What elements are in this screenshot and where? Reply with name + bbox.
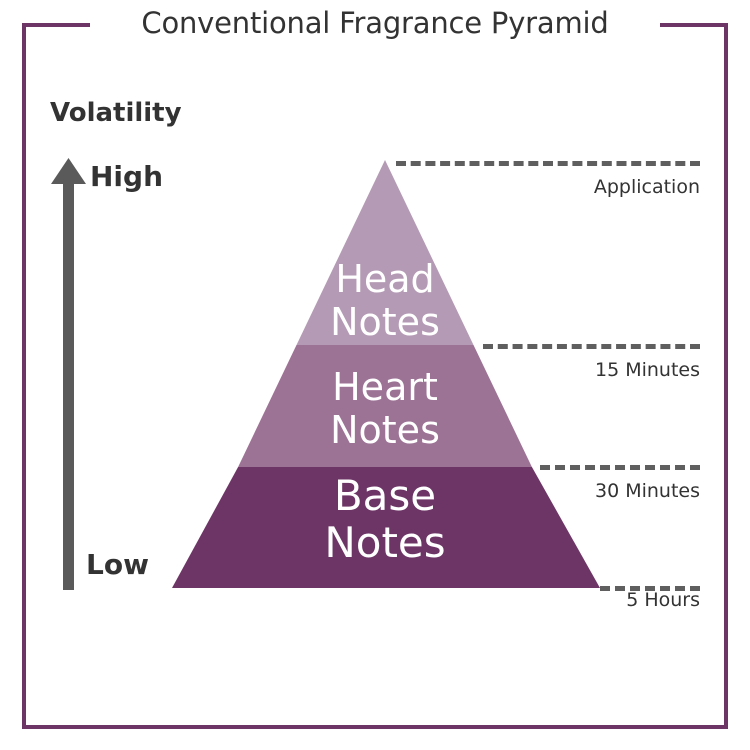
frame-right-segment	[724, 23, 728, 729]
up-arrow-icon	[48, 158, 90, 590]
timeline-dash-line-application	[396, 161, 700, 166]
chart-title: Conventional Fragrance Pyramid	[95, 6, 655, 40]
timeline-label-30-minutes: 30 Minutes	[400, 480, 700, 502]
frame-top-right-segment	[660, 23, 728, 27]
timeline-label-15-minutes: 15 Minutes	[400, 359, 700, 381]
frame-left-segment	[22, 23, 26, 729]
frame-bottom-segment	[22, 725, 728, 729]
timeline-label-5-hours: 5 Hours	[400, 589, 700, 611]
timeline-dash-line-15-minutes	[483, 344, 700, 349]
timeline-dash-line-30-minutes	[540, 465, 700, 470]
timeline-label-application: Application	[400, 176, 700, 198]
axis-label-low: Low	[86, 548, 149, 581]
frame-top-left-segment	[22, 23, 90, 27]
fragrance-pyramid-diagram: Conventional Fragrance Pyramid Volatilit…	[0, 0, 750, 750]
volatility-axis-label: Volatility	[50, 98, 182, 128]
axis-label-high: High	[90, 160, 163, 193]
